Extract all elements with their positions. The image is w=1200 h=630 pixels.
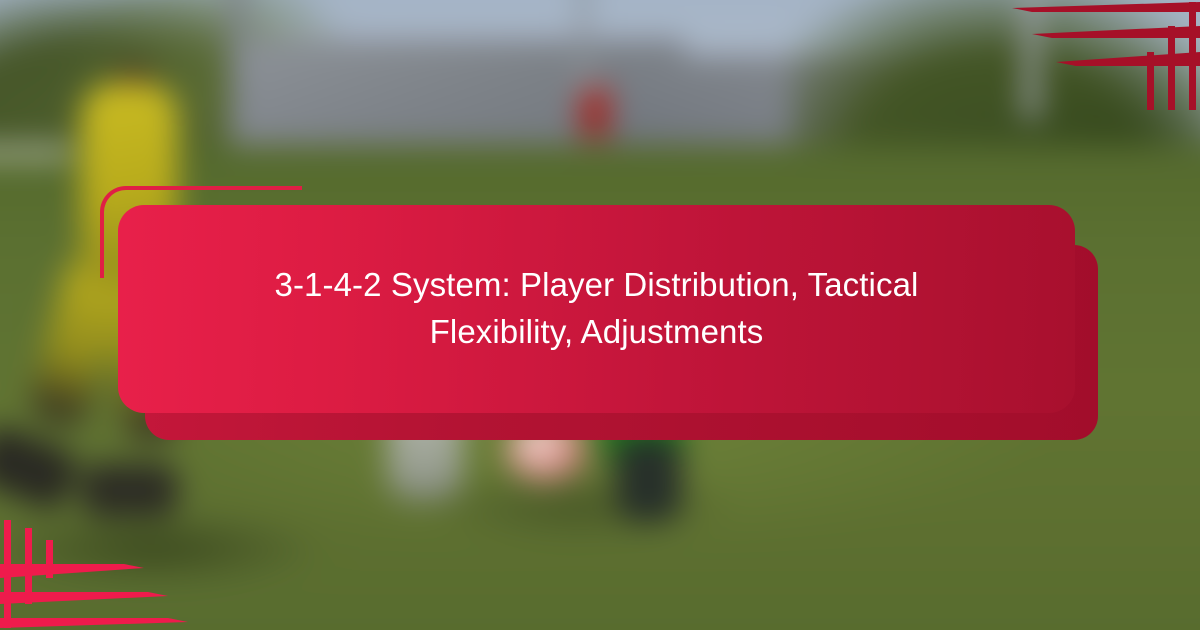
title-card: 3-1-4-2 System: Player Distribution, Tac… <box>118 205 1075 413</box>
photo-player-yellow-boot-2 <box>81 463 179 516</box>
photo-post-center <box>579 0 589 92</box>
corner-bracket-top-right <box>970 0 1200 110</box>
corner-bracket-bottom-left <box>0 520 230 630</box>
photo-shadow-center <box>420 469 738 543</box>
photo-player-green-leg <box>616 437 682 522</box>
page-title: 3-1-4-2 System: Player Distribution, Tac… <box>207 262 987 356</box>
social-card-canvas: 3-1-4-2 System: Player Distribution, Tac… <box>0 0 1200 630</box>
photo-goal-frame <box>0 145 70 293</box>
